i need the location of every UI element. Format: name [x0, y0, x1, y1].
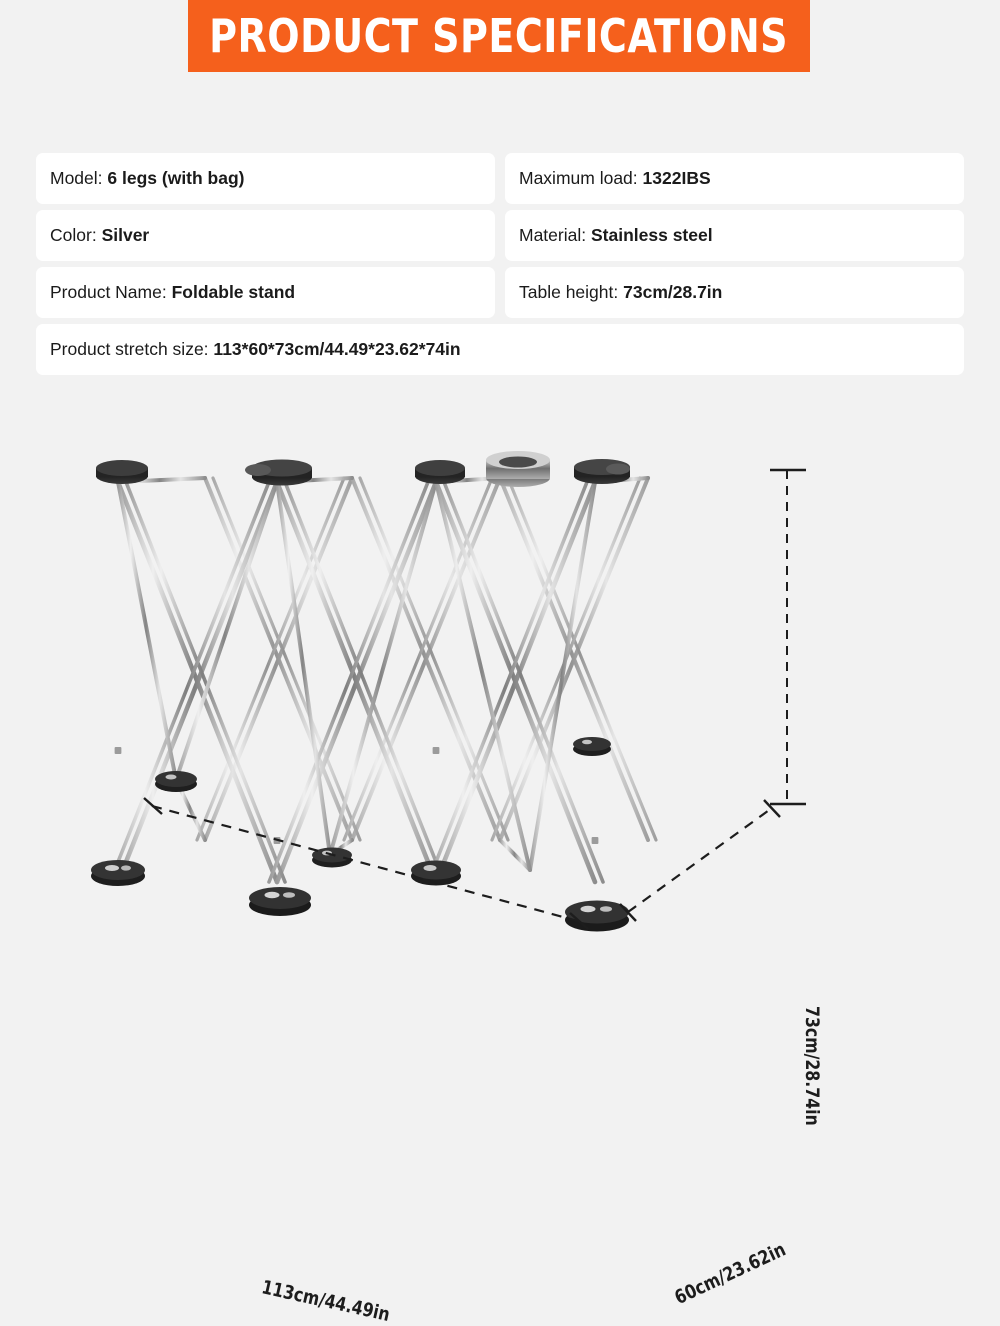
spec-cell-model: Model: 6 legs (with bag): [36, 153, 495, 204]
spec-value: Stainless steel: [591, 225, 713, 245]
spec-value: 113*60*73cm/44.49*23.62*74in: [213, 339, 460, 359]
spec-label: Product Name:: [50, 282, 167, 302]
top-hub: [96, 460, 148, 484]
spec-row: Color: Silver Material: Stainless steel: [36, 210, 964, 261]
spec-text: Color: Silver: [50, 227, 149, 245]
product-illustration: 113cm/44.49in 60cm/23.62in 73cm/28.74in: [0, 400, 1000, 1000]
foot: [155, 771, 197, 792]
spec-text: Product stretch size: 113*60*73cm/44.49*…: [50, 341, 461, 359]
dimension-label-width: 113cm/44.49in: [260, 1276, 392, 1326]
spec-cell-table-height: Table height: 73cm/28.7in: [505, 267, 964, 318]
spec-label: Material:: [519, 225, 586, 245]
spec-value: Silver: [102, 225, 150, 245]
top-hub: [245, 460, 312, 486]
foot: [91, 860, 145, 886]
spec-cell-product-stretch-size: Product stretch size: 113*60*73cm/44.49*…: [36, 324, 964, 375]
foot: [249, 887, 311, 916]
spec-value: 6 legs (with bag): [107, 168, 244, 188]
frame-front-plane: [110, 482, 603, 882]
spec-text: Material: Stainless steel: [519, 227, 713, 245]
foot: [573, 737, 611, 756]
spec-value: 1322IBS: [643, 168, 711, 188]
spec-text: Maximum load: 1322IBS: [519, 170, 711, 188]
spec-cell-product-name: Product Name: Foldable stand: [36, 267, 495, 318]
dimension-label-depth: 60cm/23.62in: [671, 1238, 789, 1309]
spec-cell-color: Color: Silver: [36, 210, 495, 261]
spec-label: Product stretch size:: [50, 339, 209, 359]
spec-cell-material: Material: Stainless steel: [505, 210, 964, 261]
dimension-height: [770, 470, 806, 804]
banner-background: PRODUCT SPECIFICATIONS: [188, 0, 810, 72]
top-hub: [574, 459, 630, 484]
spec-label: Maximum load:: [519, 168, 638, 188]
spec-label: Table height:: [519, 282, 618, 302]
spec-label: Model:: [50, 168, 103, 188]
header-banner: PRODUCT SPECIFICATIONS: [0, 0, 1000, 72]
spec-row: Product Name: Foldable stand Table heigh…: [36, 267, 964, 318]
page-title: PRODUCT SPECIFICATIONS: [210, 13, 789, 59]
spec-row: Model: 6 legs (with bag) Maximum load: 1…: [36, 153, 964, 204]
spec-row: Product stretch size: 113*60*73cm/44.49*…: [36, 324, 964, 375]
spec-cell-maximum-load: Maximum load: 1322IBS: [505, 153, 964, 204]
spec-text: Table height: 73cm/28.7in: [519, 284, 722, 302]
spec-label: Color:: [50, 225, 97, 245]
specifications-table: Model: 6 legs (with bag) Maximum load: 1…: [36, 153, 964, 381]
spec-text: Product Name: Foldable stand: [50, 284, 295, 302]
dimension-depth: [620, 800, 780, 921]
top-hub: [415, 460, 465, 484]
dimension-label-height: 73cm/28.74in: [801, 1006, 823, 1126]
spec-value: 73cm/28.7in: [623, 282, 722, 302]
spec-value: Foldable stand: [172, 282, 295, 302]
foldable-stand-diagram: [0, 400, 1000, 1000]
top-hub-cylinder: [486, 451, 550, 487]
spec-text: Model: 6 legs (with bag): [50, 170, 245, 188]
